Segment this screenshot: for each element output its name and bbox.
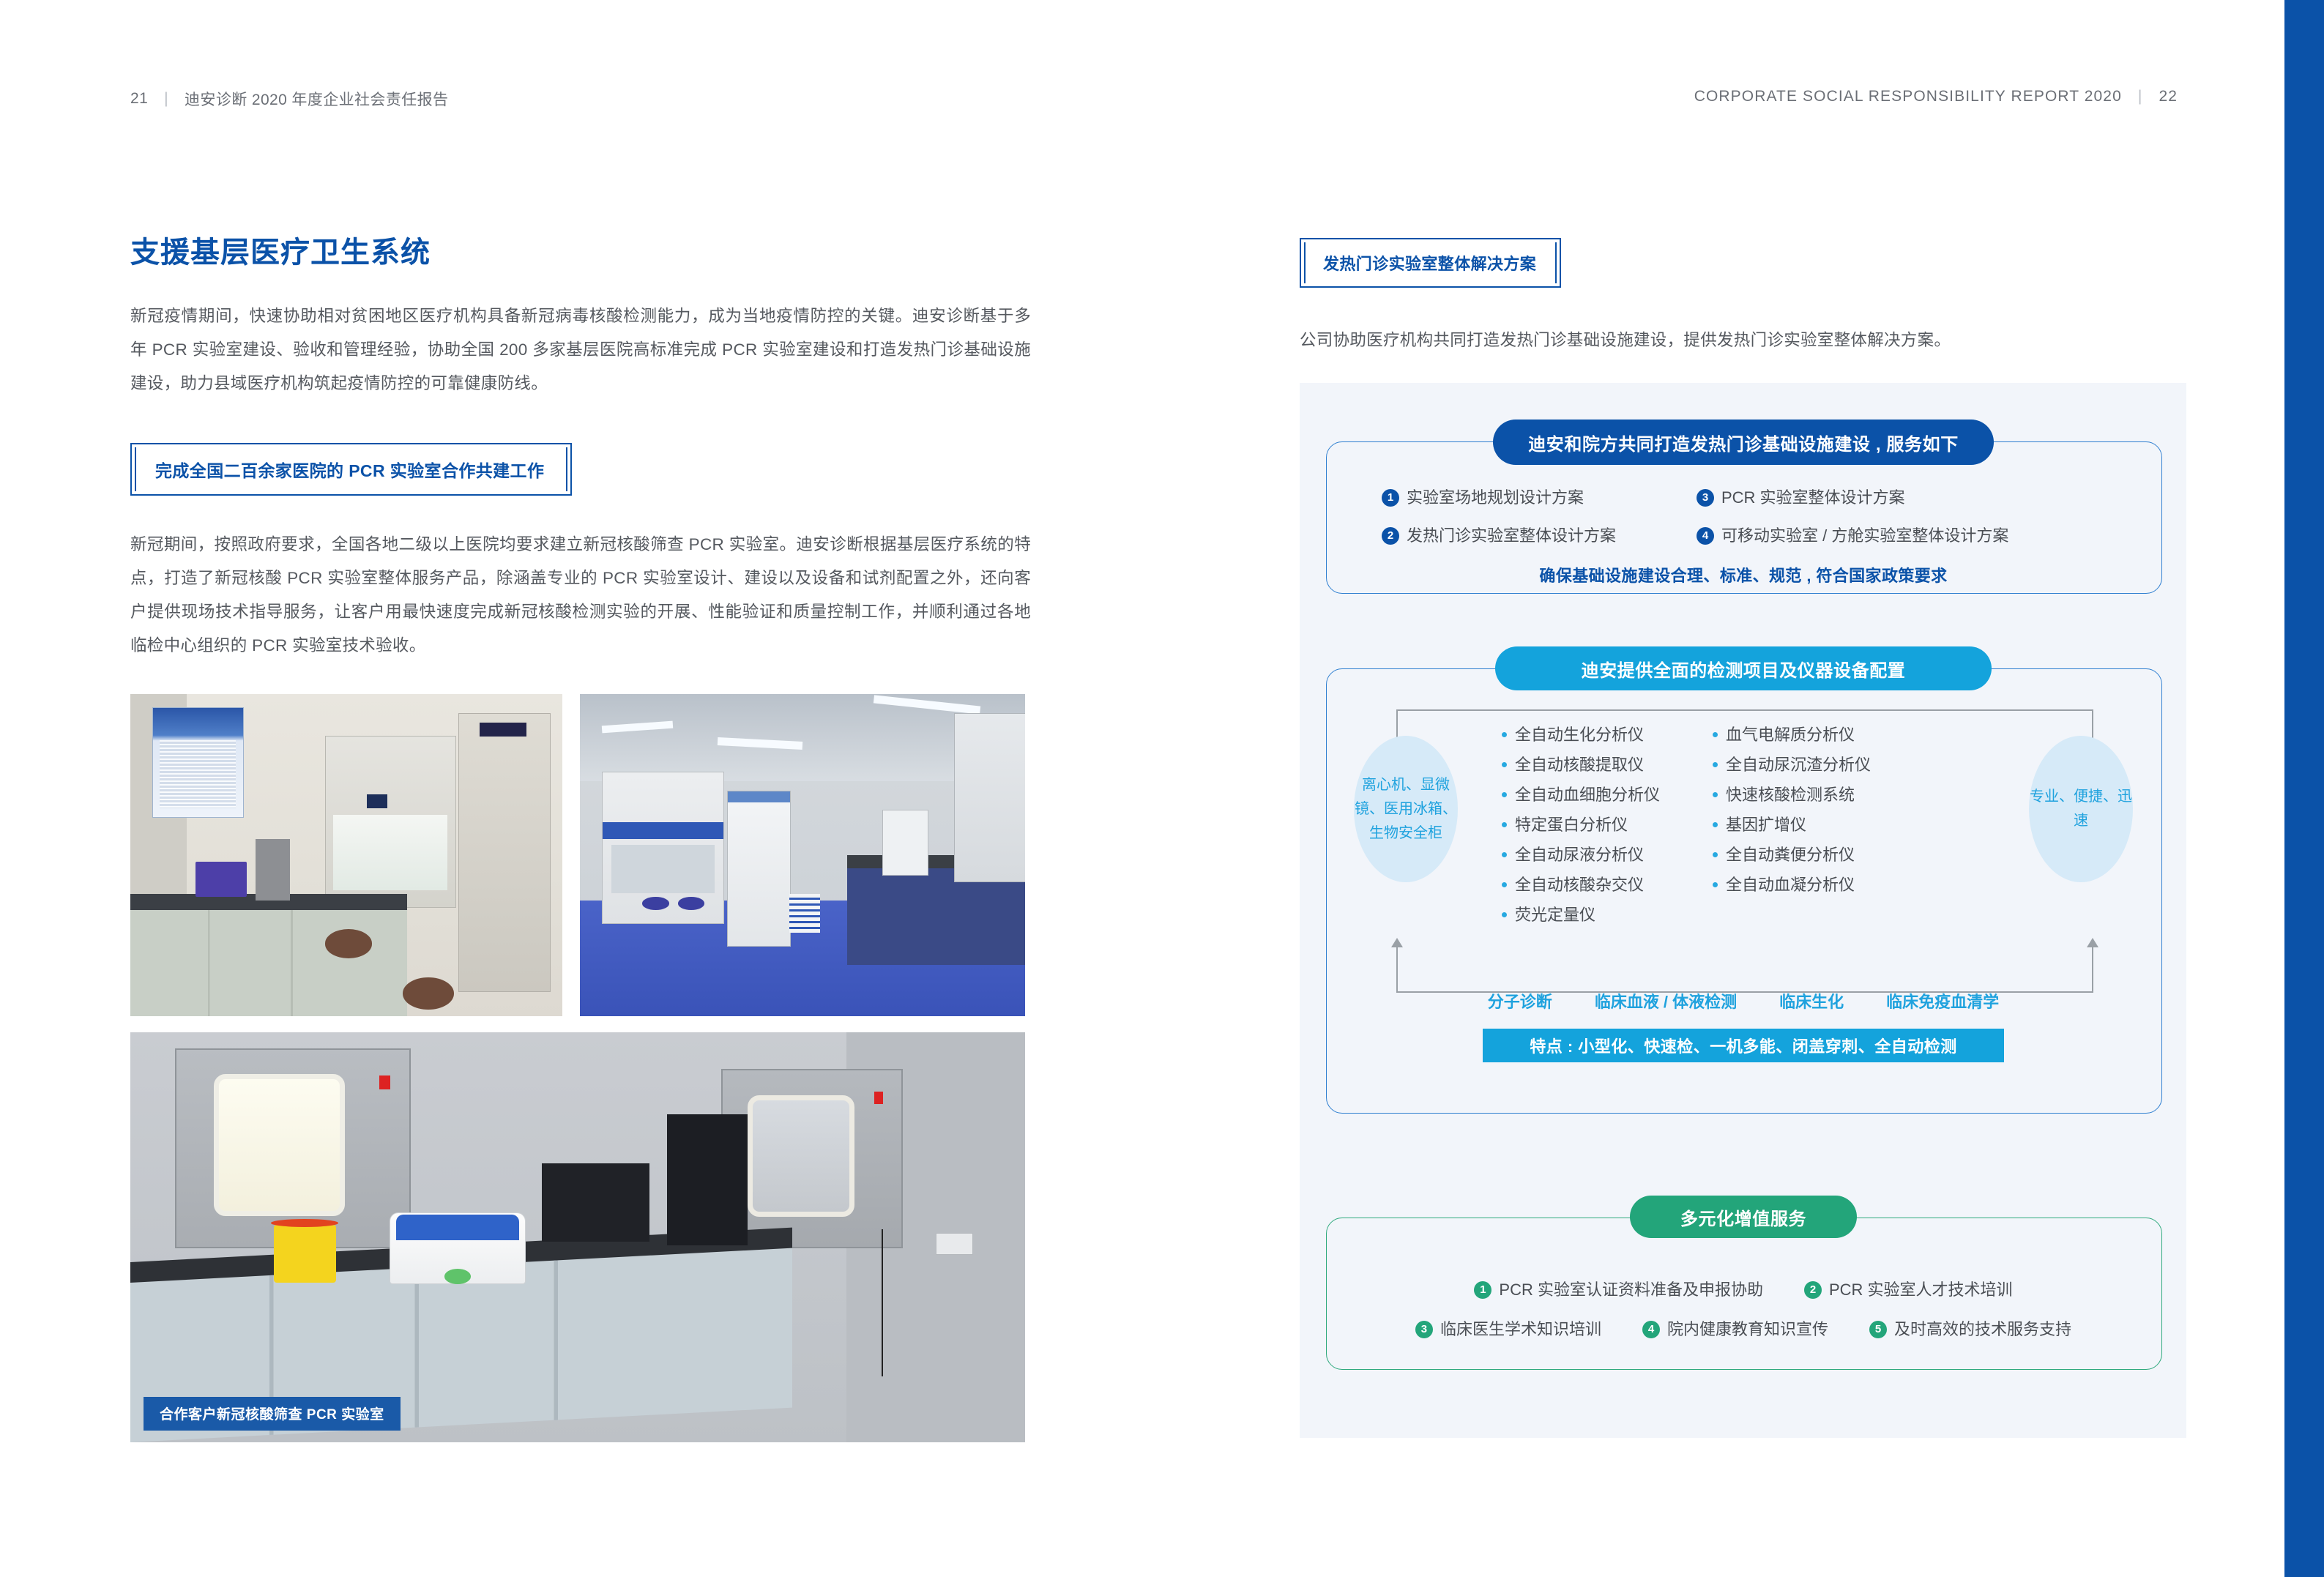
header-right-separator: | — [2138, 88, 2143, 105]
panel2-device-item: 全自动尿液分析仪 — [1502, 840, 1677, 870]
panel2-device-label: 全自动核酸提取仪 — [1515, 750, 1644, 780]
page-root: 21 | 迪安诊断 2020 年度企业社会责任报告 CORPORATE SOCI… — [0, 0, 2324, 1577]
bullet-dot-icon — [1713, 822, 1718, 827]
panel2-device-item: 全自动核酸杂交仪 — [1502, 870, 1677, 900]
panel2-device-item: 快速核酸检测系统 — [1713, 780, 2014, 810]
page-edge-strip — [2284, 0, 2324, 1577]
panel2-device-column-1: 全自动生化分析仪 全自动核酸提取仪 全自动血细胞分析仪 特定蛋白分析仪 全自动尿… — [1502, 720, 1677, 930]
left-highlight-tag-label: 完成全国二百余家医院的 PCR 实验室合作共建工作 — [155, 461, 544, 480]
bullet-dot-icon — [1713, 852, 1718, 857]
bullet-dot-icon — [1713, 792, 1718, 797]
panel1-item-number: 1 — [1382, 489, 1399, 507]
panel2-device-item: 全自动生化分析仪 — [1502, 720, 1677, 750]
left-paragraph-1: 新冠疫情期间，快速协助相对贫困地区医疗机构具备新冠病毒核酸检测能力，成为当地疫情… — [130, 299, 1031, 400]
panel3-row-2: 3 临床医生学术知识培训 4 院内健康教育知识宣传 5 及时高效的技术服务支持 — [1326, 1319, 2161, 1341]
panel3-item-label: 及时高效的技术服务支持 — [1894, 1319, 2071, 1341]
panel2-device-item: 全自动血凝分析仪 — [1713, 870, 2014, 900]
panel2-arrow-right-up — [2092, 947, 2093, 993]
bullet-dot-icon — [1502, 912, 1507, 917]
panel2-feature-bar: 特点 : 小型化、快速检、一机多能、闭盖穿刺、全自动检测 — [1483, 1029, 2004, 1062]
panel2-right-bubble-label: 专业、便捷、迅速 — [2029, 785, 2133, 833]
panel2-left-bubble-label: 离心机、显微镜、医用冰箱、生物安全柜 — [1354, 773, 1458, 846]
header-left-page-number: 21 — [130, 90, 148, 108]
panel2-device-item: 全自动核酸提取仪 — [1502, 750, 1677, 780]
panel3-item-label: PCR 实验室人才技术培训 — [1829, 1279, 2013, 1301]
right-intro-text: 公司协助医疗机构共同打造发热门诊基础设施建设，提供发热门诊实验室整体解决方案。 — [1300, 326, 2200, 355]
panel2-device-grid: 全自动生化分析仪 全自动核酸提取仪 全自动血细胞分析仪 特定蛋白分析仪 全自动尿… — [1502, 720, 2014, 930]
right-highlight-tag-inner: 发热门诊实验室整体解决方案 — [1304, 242, 1557, 283]
panel2-device-label: 全自动生化分析仪 — [1515, 720, 1644, 750]
left-highlight-tag: 完成全国二百余家医院的 PCR 实验室合作共建工作 — [130, 443, 572, 496]
photo-row-top — [130, 694, 1025, 1016]
panel2-device-label: 快速核酸检测系统 — [1726, 780, 1855, 810]
panel3-item: 2 PCR 实验室人才技术培训 — [1804, 1279, 2013, 1301]
header-left: 21 | 迪安诊断 2020 年度企业社会责任报告 — [130, 88, 448, 110]
panel2-device-label: 血气电解质分析仪 — [1726, 720, 1855, 750]
bullet-dot-icon — [1713, 762, 1718, 767]
panel3-item-number: 5 — [1869, 1321, 1887, 1338]
panel1-item-number: 2 — [1382, 527, 1399, 545]
panel1-item-label: 发热门诊实验室整体设计方案 — [1407, 525, 1616, 547]
panel2-device-label: 荧光定量仪 — [1515, 900, 1595, 930]
bullet-dot-icon — [1502, 822, 1507, 827]
panel2-device-item: 基因扩增仪 — [1713, 810, 2014, 840]
panel2-device-label: 基因扩增仪 — [1726, 810, 1806, 840]
panel2-arrow-top-rail — [1396, 709, 2093, 711]
panel2-category: 临床生化 — [1779, 989, 1844, 1013]
bullet-dot-icon — [1502, 732, 1507, 737]
photo-pass-through-room: 合作客户新冠核酸筛查 PCR 实验室 — [130, 1032, 1025, 1442]
left-column: 支援基层医疗卫生系统 新冠疫情期间，快速协助相对贫困地区医疗机构具备新冠病毒核酸… — [130, 238, 1031, 663]
panel1-item-number: 4 — [1697, 527, 1714, 545]
panel2-device-label: 全自动血细胞分析仪 — [1515, 780, 1660, 810]
panel3-item-label: 临床医生学术知识培训 — [1440, 1319, 1601, 1341]
panel3-item-number: 3 — [1415, 1321, 1433, 1338]
photo-pass-through-room-art — [130, 1032, 1025, 1442]
panel1-item: 4 可移动实验室 / 方舱实验室整体设计方案 — [1697, 525, 2114, 547]
panel2-title-pill: 迪安提供全面的检测项目及仪器设备配置 — [1495, 646, 1992, 690]
bullet-dot-icon — [1502, 762, 1507, 767]
photo-lab-blue-floor-art — [580, 694, 1025, 1016]
left-highlight-tag-inner: 完成全国二百余家医院的 PCR 实验室合作共建工作 — [135, 447, 567, 491]
photo-lab-green-floor — [130, 694, 562, 1016]
photo-lab-green-floor-art — [130, 694, 562, 1016]
panel2-arrow-right-up-head — [2087, 938, 2098, 947]
panel1-item-list: 1 实验室场地规划设计方案 3 PCR 实验室整体设计方案 2 发热门诊实验室整… — [1382, 487, 2114, 547]
photo-lab-blue-floor — [580, 694, 1025, 1016]
right-highlight-tag: 发热门诊实验室整体解决方案 — [1300, 238, 1561, 288]
panel1-title-pill: 迪安和院方共同打造发热门诊基础设施建设 , 服务如下 — [1493, 420, 1994, 465]
panel3-item: 5 及时高效的技术服务支持 — [1869, 1319, 2071, 1341]
header-left-title: 迪安诊断 2020 年度企业社会责任报告 — [185, 88, 448, 110]
bullet-dot-icon — [1502, 882, 1507, 887]
panel3-item-number: 4 — [1642, 1321, 1660, 1338]
page-title: 支援基层医疗卫生系统 — [130, 238, 1031, 267]
panel3-item-label: 院内健康教育知识宣传 — [1667, 1319, 1828, 1341]
panel3-item-number: 2 — [1804, 1281, 1822, 1299]
panel2-category: 临床免疫血清学 — [1886, 989, 1999, 1013]
panel1-item-label: 实验室场地规划设计方案 — [1407, 487, 1584, 509]
panel2-category: 临床血液 / 体液检测 — [1595, 989, 1737, 1013]
photo-gallery: 合作客户新冠核酸筛查 PCR 实验室 — [130, 694, 1025, 1442]
panel1-item: 2 发热门诊实验室整体设计方案 — [1382, 525, 1697, 547]
header-right-page-number: 22 — [2159, 88, 2178, 105]
panel2-device-item: 特定蛋白分析仪 — [1502, 810, 1677, 840]
panel2-device-label: 全自动血凝分析仪 — [1726, 870, 1855, 900]
panel2-device-column-2: 血气电解质分析仪 全自动尿沉渣分析仪 快速核酸检测系统 基因扩增仪 全自动粪便分… — [1713, 720, 2014, 930]
panel2-device-item: 荧光定量仪 — [1502, 900, 1677, 930]
panel2-device-label: 全自动核酸杂交仪 — [1515, 870, 1644, 900]
panel3-title-pill: 多元化增值服务 — [1630, 1196, 1857, 1238]
panel2-device-item: 全自动血细胞分析仪 — [1502, 780, 1677, 810]
panel3-item: 1 PCR 实验室认证资料准备及申报协助 — [1474, 1279, 1763, 1301]
panel3-item: 4 院内健康教育知识宣传 — [1642, 1319, 1828, 1341]
bullet-dot-icon — [1713, 882, 1718, 887]
panel2-device-label: 全自动尿液分析仪 — [1515, 840, 1644, 870]
panel2-category-row: 分子诊断 临床血液 / 体液检测 临床生化 临床免疫血清学 — [1326, 989, 2161, 1013]
bullet-dot-icon — [1502, 792, 1507, 797]
panel1-item-label: 可移动实验室 / 方舱实验室整体设计方案 — [1721, 525, 2008, 547]
header-right-title: CORPORATE SOCIAL RESPONSIBILITY REPORT 2… — [1694, 88, 2122, 105]
header-left-separator: | — [164, 90, 168, 108]
panel2-device-label: 全自动粪便分析仪 — [1726, 840, 1855, 870]
panel3-item-label: PCR 实验室认证资料准备及申报协助 — [1499, 1279, 1763, 1301]
panel1-item: 3 PCR 实验室整体设计方案 — [1697, 487, 2114, 509]
bullet-dot-icon — [1502, 852, 1507, 857]
solution-diagram: 迪安和院方共同打造发热门诊基础设施建设 , 服务如下 1 实验室场地规划设计方案… — [1300, 383, 2186, 1438]
panel1-item-label: PCR 实验室整体设计方案 — [1721, 487, 1905, 509]
panel2-arrow-left-up — [1396, 947, 1398, 993]
panel1-item: 1 实验室场地规划设计方案 — [1382, 487, 1697, 509]
left-paragraph-2: 新冠期间，按照政府要求，全国各地二级以上医院均要求建立新冠核酸筛查 PCR 实验… — [130, 528, 1031, 663]
panel3-item: 3 临床医生学术知识培训 — [1415, 1319, 1601, 1341]
diagram-panel-value-added-services: 多元化增值服务 1 PCR 实验室认证资料准备及申报协助 2 PCR 实验室人才… — [1326, 1218, 2161, 1368]
panel3-item-number: 1 — [1474, 1281, 1491, 1299]
bullet-dot-icon — [1713, 732, 1718, 737]
diagram-panel-infrastructure: 迪安和院方共同打造发热门诊基础设施建设 , 服务如下 1 实验室场地规划设计方案… — [1326, 441, 2161, 592]
panel2-right-bubble: 专业、便捷、迅速 — [2029, 736, 2133, 882]
panel2-device-item: 全自动粪便分析仪 — [1713, 840, 2014, 870]
panel2-device-label: 全自动尿沉渣分析仪 — [1726, 750, 1871, 780]
panel3-row-1: 1 PCR 实验室认证资料准备及申报协助 2 PCR 实验室人才技术培训 — [1326, 1279, 2161, 1301]
panel2-device-item: 血气电解质分析仪 — [1713, 720, 2014, 750]
panel2-category: 分子诊断 — [1488, 989, 1552, 1013]
panel2-left-bubble: 离心机、显微镜、医用冰箱、生物安全柜 — [1354, 736, 1458, 882]
right-highlight-tag-label: 发热门诊实验室整体解决方案 — [1323, 255, 1536, 273]
right-column: 发热门诊实验室整体解决方案 公司协助医疗机构共同打造发热门诊基础设施建设，提供发… — [1300, 238, 2200, 355]
panel2-device-item: 全自动尿沉渣分析仪 — [1713, 750, 2014, 780]
panel1-item-number: 3 — [1697, 489, 1714, 507]
panel2-arrow-left-up-head — [1391, 938, 1403, 947]
panel1-footer-note: 确保基础设施建设合理、标准、规范 , 符合国家政策要求 — [1326, 563, 2161, 586]
diagram-panel-testing-items: 迪安提供全面的检测项目及仪器设备配置 离心机、显微镜、医用冰箱、生物安全柜 专业… — [1326, 668, 2161, 1144]
header-right: CORPORATE SOCIAL RESPONSIBILITY REPORT 2… — [1694, 88, 2178, 105]
panel2-device-label: 特定蛋白分析仪 — [1515, 810, 1628, 840]
photo-caption: 合作客户新冠核酸筛查 PCR 实验室 — [144, 1397, 401, 1431]
